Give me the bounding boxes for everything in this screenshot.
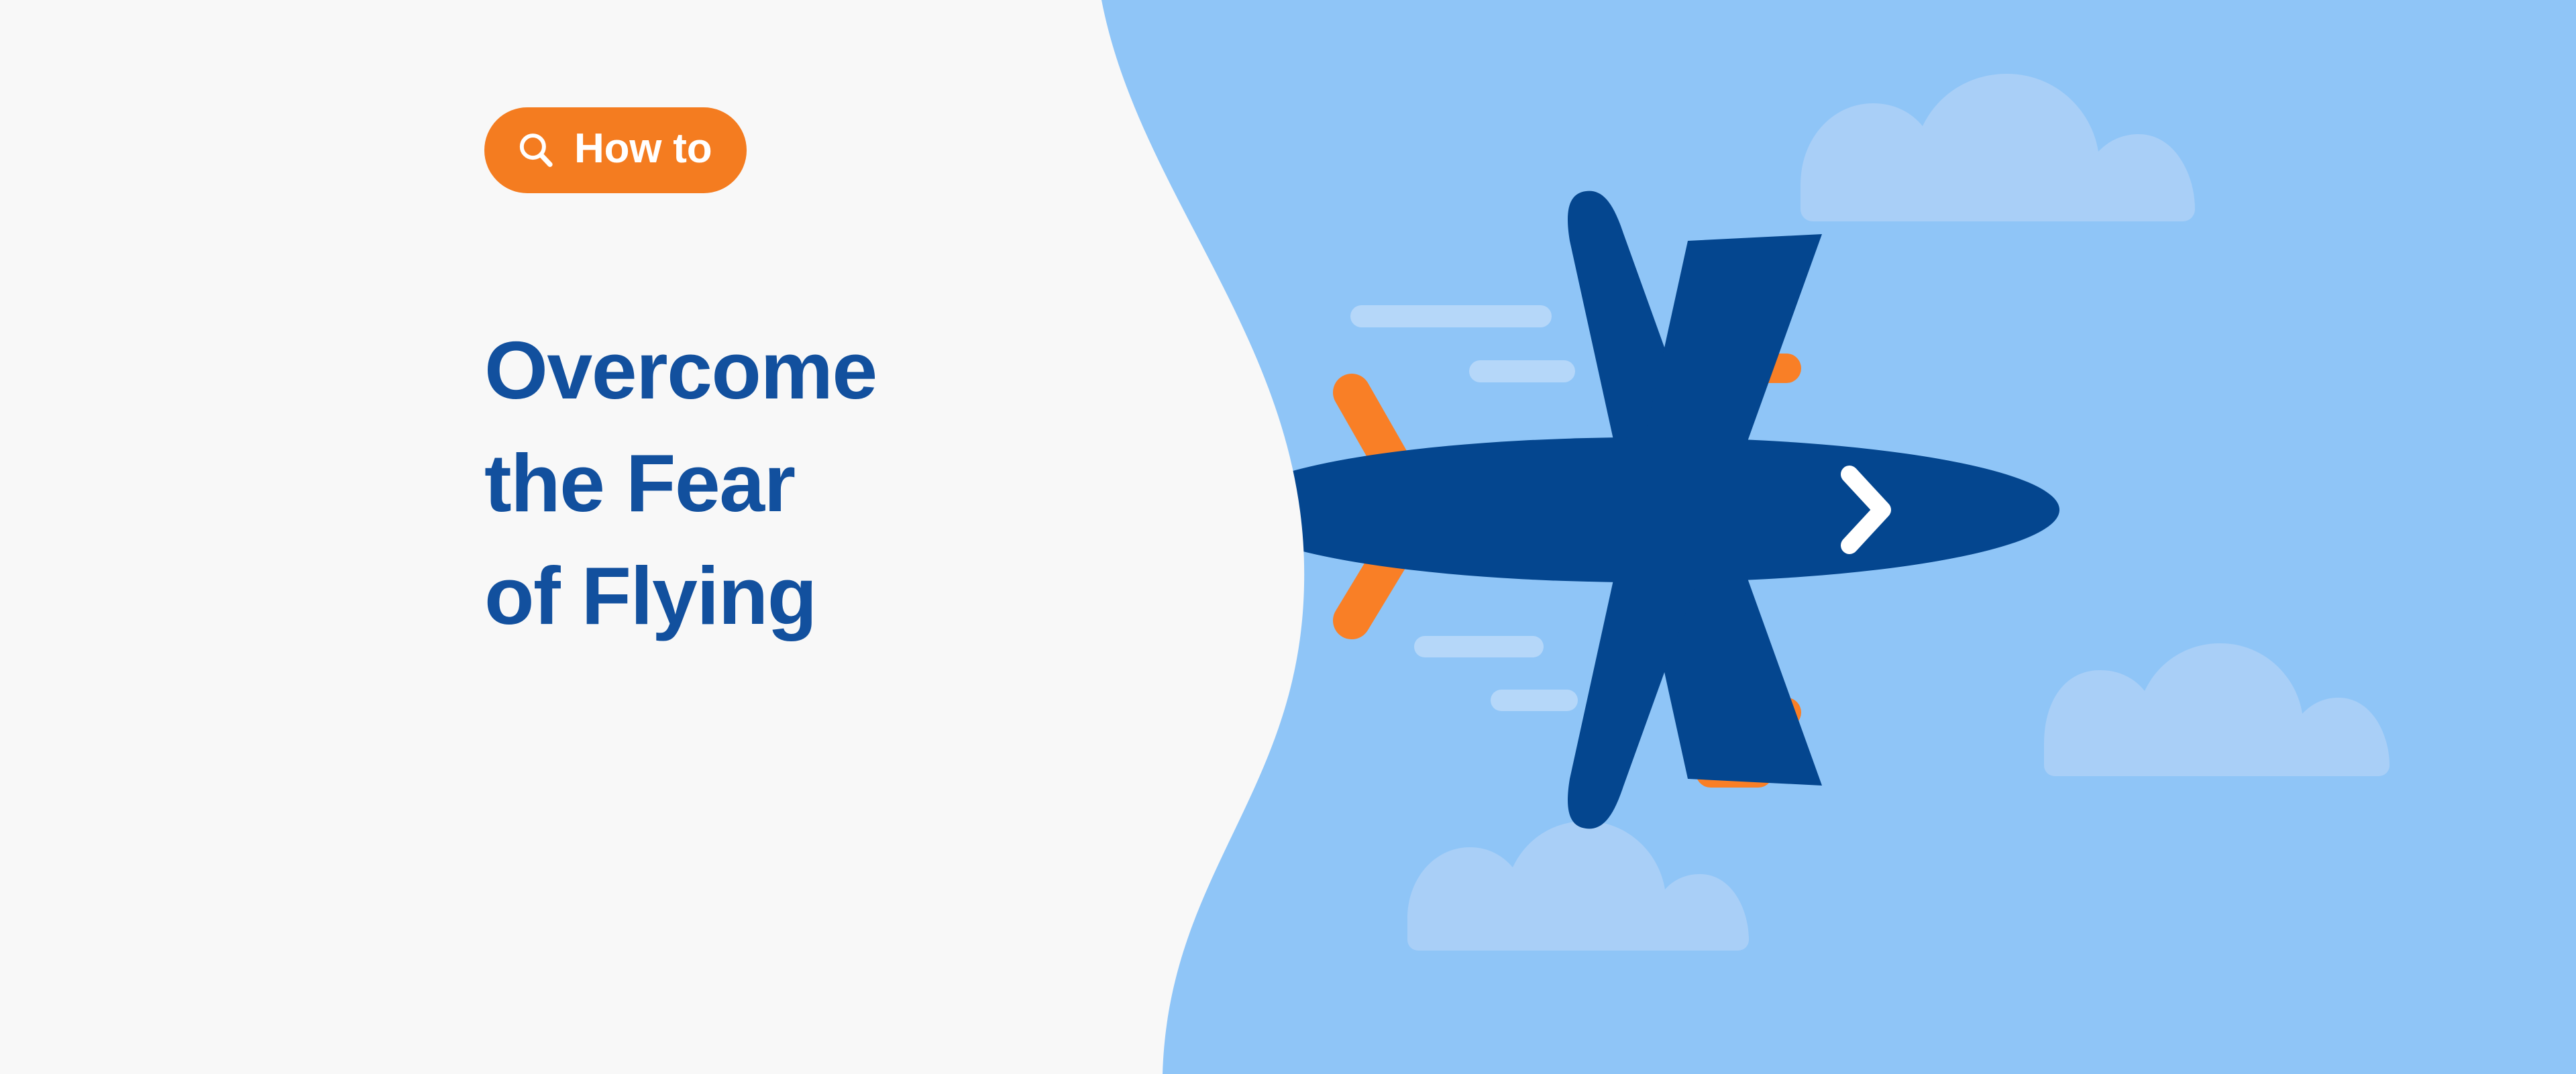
page-title-line-3: of Flying: [484, 539, 1088, 652]
search-icon: [515, 129, 557, 171]
hero-banner: How to Overcome the Fear of Flying: [0, 0, 2576, 1074]
how-to-badge[interactable]: How to: [484, 107, 747, 193]
page-title-line-1: Overcome: [484, 314, 1088, 427]
how-to-badge-label: How to: [574, 128, 712, 170]
page-title: Overcome the Fear of Flying: [484, 314, 1088, 653]
hero-content: How to Overcome the Fear of Flying: [0, 0, 1100, 1074]
page-title-line-2: the Fear: [484, 427, 1088, 539]
